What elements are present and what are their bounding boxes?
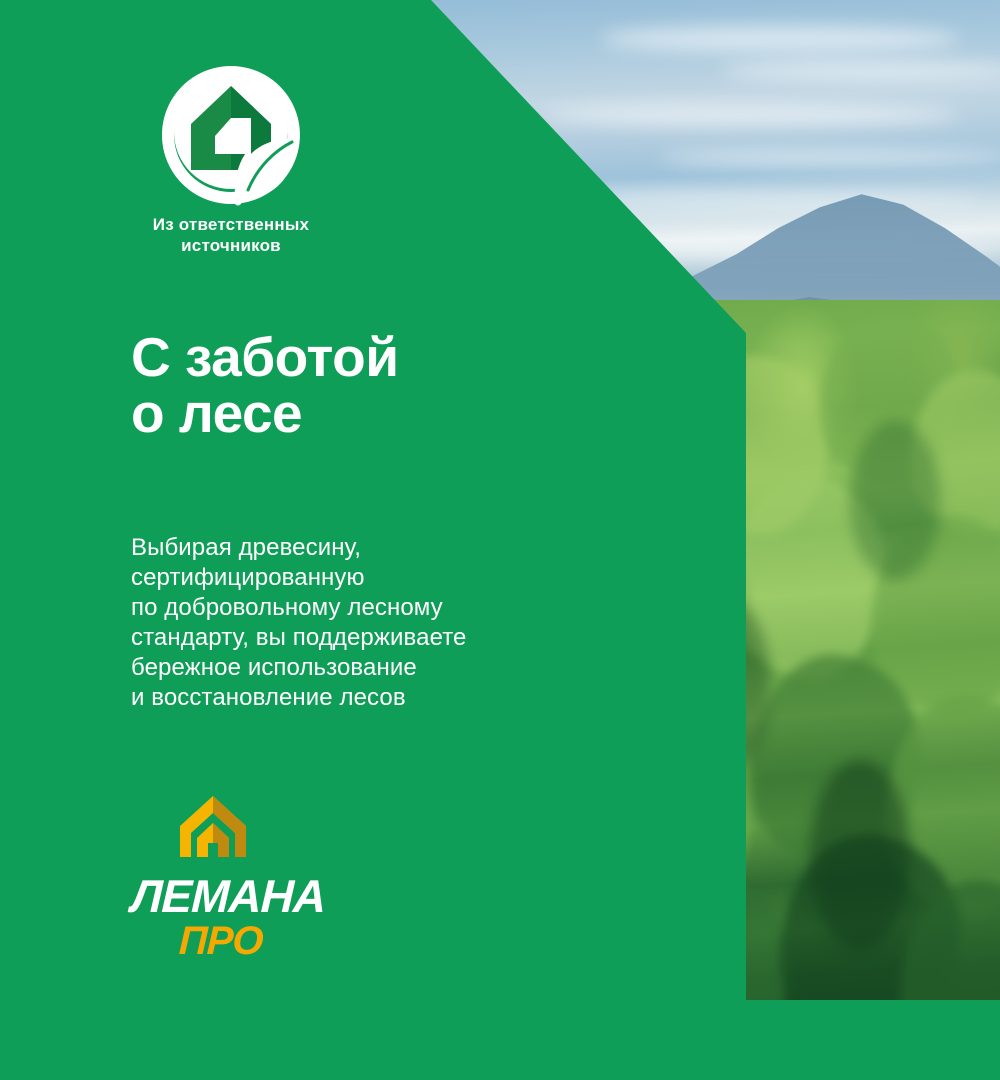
badge-caption-line2: источников <box>126 235 336 256</box>
body-line-1: Выбирая древесину, <box>131 533 691 563</box>
house-leaf-circle-icon <box>158 62 304 208</box>
brand-suffix: ПРО <box>178 921 361 961</box>
lemana-house-icon <box>177 793 249 865</box>
body-line-5: бережное использование <box>131 653 691 683</box>
page-title: С заботой о лесе <box>131 329 651 441</box>
body-copy: Выбирая древесину, сертифицированную по … <box>131 533 691 713</box>
body-line-6: и восстановление лесов <box>131 683 691 713</box>
poster-content: Из ответственных источников С заботой о … <box>0 0 1000 1000</box>
body-line-4: стандарту, вы поддерживаете <box>131 623 691 653</box>
body-line-2: сертифицированную <box>131 563 691 593</box>
brand-name: ЛЕМАНА <box>130 873 362 919</box>
badge-caption: Из ответственных источников <box>126 214 336 256</box>
headline-line2: о лесе <box>131 385 651 441</box>
headline-line1: С заботой <box>131 329 651 385</box>
badge-caption-line1: Из ответственных <box>126 214 336 235</box>
body-line-3: по добровольному лесному <box>131 593 691 623</box>
brand-logo: ЛЕМАНА ПРО <box>131 793 361 961</box>
